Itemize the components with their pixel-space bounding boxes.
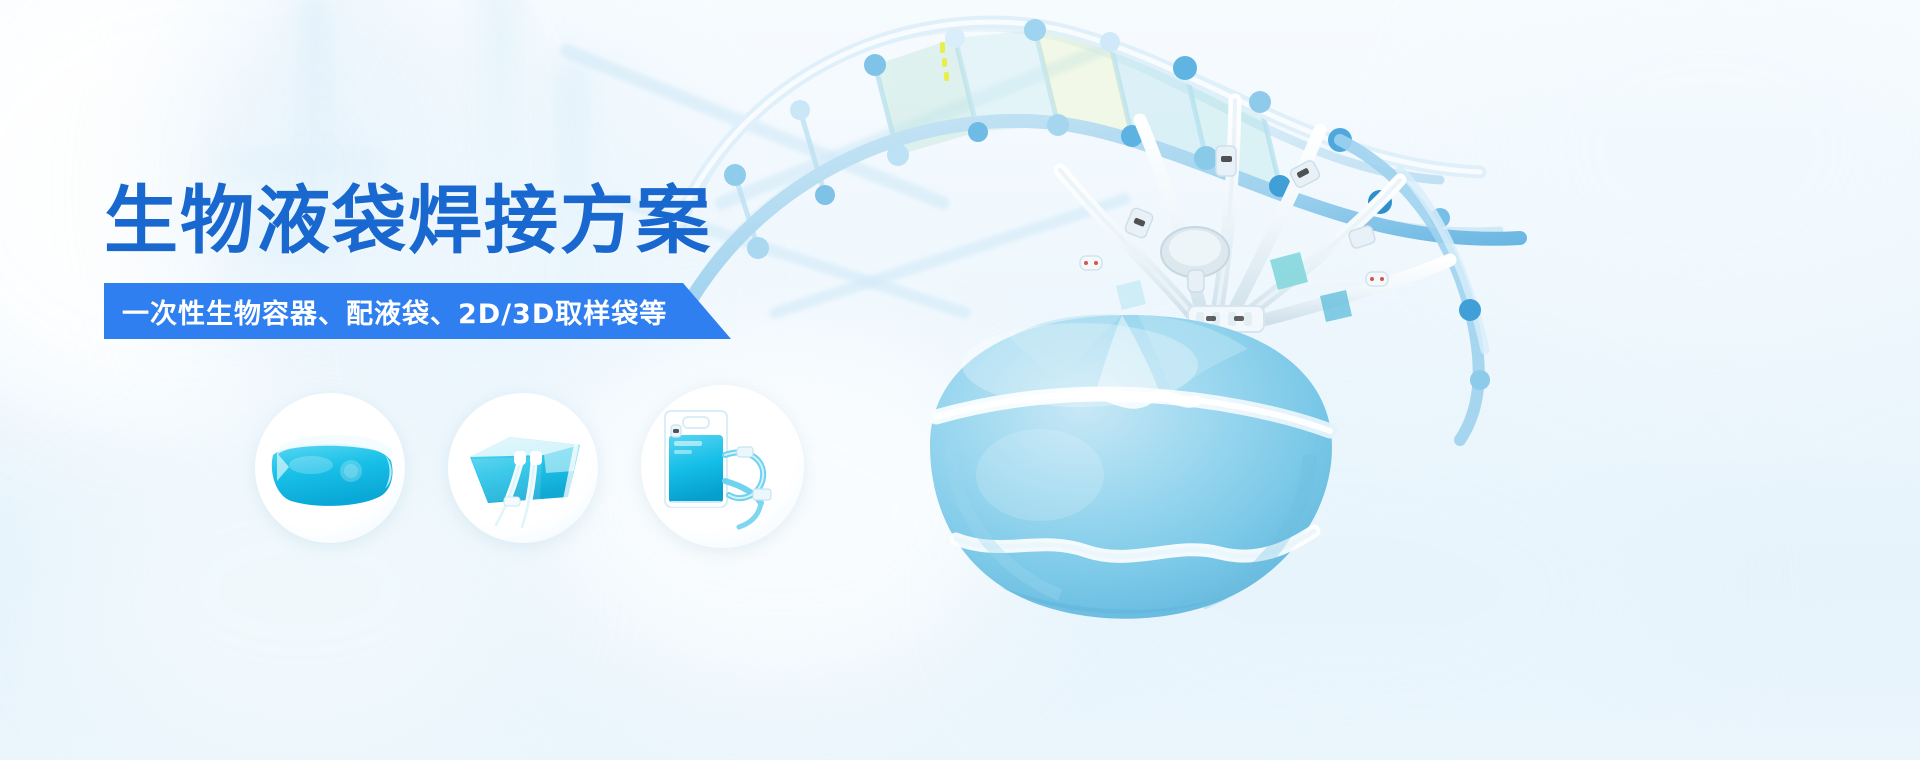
lab-equipment-shape [482, 0, 518, 320]
product-1-label: 2D液袋 / 一次性生物容器 [255, 393, 256, 394]
product-thumbnail-1[interactable]: 2D液袋 / 一次性生物容器 [255, 393, 405, 543]
product-thumbnail-2[interactable]: 配液袋 [448, 393, 598, 543]
product-3-label: 2D/3D取样袋 [641, 385, 642, 386]
product-2-label: 配液袋 [448, 393, 449, 394]
page-title: 生物液袋焊接方案 [104, 183, 712, 259]
product-thumbnail-3[interactable]: 2D/3D取样袋 [641, 385, 804, 548]
subtitle-ribbon-body: 一次性生物容器、配液袋、2D/3D取样袋等 [104, 283, 683, 339]
ribbon-arrow-tip [683, 283, 731, 339]
3d-bioreactor-bag-icon [890, 295, 1370, 625]
lab-equipment-shape [210, 150, 390, 176]
subtitle-ribbon: 一次性生物容器、配液袋、2D/3D取样袋等 [104, 283, 731, 339]
subtitle-text: 一次性生物容器、配液袋、2D/3D取样袋等 [122, 292, 667, 331]
product-thumbnail-list: 2D液袋 / 一次性生物容器 [255, 385, 815, 550]
product-banner: 生物液袋焊接方案 一次性生物容器、配液袋、2D/3D取样袋等 2D液袋 / 一次… [0, 0, 1920, 760]
